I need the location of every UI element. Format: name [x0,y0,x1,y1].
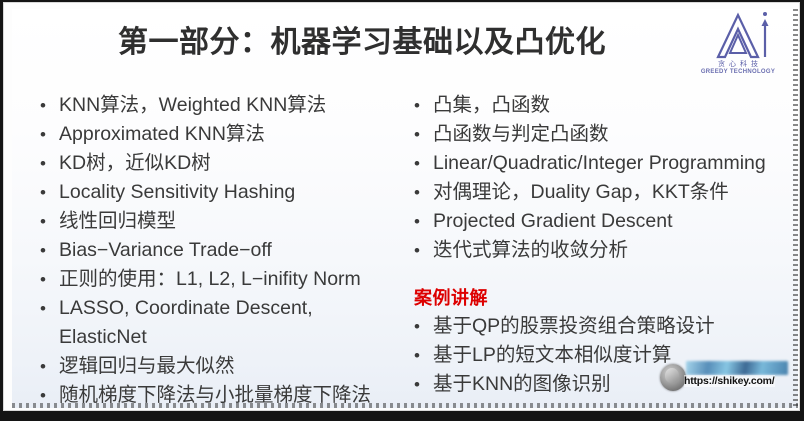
left-bullet-item: •KD树，近似KD树 [40,149,410,178]
right-bullet-item: •Projected Gradient Descent [414,207,794,236]
case-study-item: •基于QP的股票投资组合策略设计 [414,312,794,341]
bullet-dot-icon: • [414,149,433,178]
right-bullet-item-label: 凸函数与判定凸函数 [433,120,794,149]
bullet-dot-icon: • [40,265,59,294]
case-study-item-label: 基于QP的股票投资组合策略设计 [433,312,794,341]
right-bullet-item-label: Linear/Quadratic/Integer Programming [433,149,794,178]
right-bullet-item: •凸函数与判定凸函数 [414,120,794,149]
left-bullet-item-label: Approximated KNN算法 [59,120,410,149]
greedy-technology-logo: 贪心科技 GREEDY TECHNOLOGY [692,11,784,79]
left-bullet-item: •LASSO, Coordinate Descent,ElasticNet [40,294,410,352]
bullet-dot-icon: • [40,120,59,149]
user-avatar-icon [660,364,686,391]
watermark-blurred-text [686,361,788,375]
bullet-dot-icon: • [40,207,59,236]
bullet-dot-icon: • [414,312,433,341]
bullet-dot-icon: • [414,341,433,370]
bullet-dot-icon: • [414,370,433,399]
bullet-dot-icon: • [40,149,59,178]
bullet-dot-icon: • [40,178,59,207]
left-bullet-item: •Bias−Variance Trade−off [40,236,410,265]
right-bullet-item-label: 迭代式算法的收敛分析 [433,236,794,265]
bullet-dot-icon: • [414,236,433,265]
right-bullet-column: •凸集，凸函数•凸函数与判定凸函数•Linear/Quadratic/Integ… [414,91,794,265]
right-bullet-item: •对偶理论，Duality Gap，KKT条件 [414,178,794,207]
right-bullet-item: •迭代式算法的收敛分析 [414,236,794,265]
left-bullet-item-label-continued: ElasticNet [59,323,410,352]
logo-a-arrow-icon [692,11,784,61]
right-bullet-item: •Linear/Quadratic/Integer Programming [414,149,794,178]
bullet-dot-icon: • [40,91,59,120]
watermark: https://shikey.com/ [660,361,790,395]
watermark-url: https://shikey.com/ [684,375,775,387]
left-bullet-item: •Locality Sensitivity Hashing [40,178,410,207]
left-bullet-item: •逻辑回归与最大似然 [40,352,410,381]
left-bullet-column: •KNN算法，Weighted KNN算法•Approximated KNN算法… [40,91,410,408]
bullet-dot-icon: • [40,236,59,265]
left-bullet-item-label: LASSO, Coordinate Descent,ElasticNet [59,294,410,352]
left-bullet-item: •正则的使用：L1, L2, L−inifity Norm [40,265,410,294]
bullet-dot-icon: • [40,294,59,323]
bullet-dot-icon: • [414,207,433,236]
bullet-dot-icon: • [414,91,433,120]
left-bullet-item-label: Locality Sensitivity Hashing [59,178,410,207]
left-bullet-item: •线性回归模型 [40,207,410,236]
left-bullet-item: •随机梯度下降法与小批量梯度下降法 [40,381,410,408]
bullet-dot-icon: • [40,381,59,408]
screen-frame: 第一部分：机器学习基础以及凸优化 贪心科技 GREEDY TECHNOLOGY … [0,0,804,421]
left-bullet-item-label: 随机梯度下降法与小批量梯度下降法 [59,381,410,408]
right-bullet-item-label: 对偶理论，Duality Gap，KKT条件 [433,178,794,207]
presentation-slide: 第一部分：机器学习基础以及凸优化 贪心科技 GREEDY TECHNOLOGY … [12,9,798,408]
left-bullet-item: •Approximated KNN算法 [40,120,410,149]
case-study-heading: 案例讲解 [414,286,794,310]
slide-title: 第一部分：机器学习基础以及凸优化 [12,17,712,61]
left-bullet-item-label: KNN算法，Weighted KNN算法 [59,91,410,120]
left-bullet-item-label: KD树，近似KD树 [59,149,410,178]
logo-english-name: GREEDY TECHNOLOGY [692,69,784,75]
left-bullet-item-label: 逻辑回归与最大似然 [59,352,410,381]
bullet-dot-icon: • [414,178,433,207]
left-bullet-item-label: 正则的使用：L1, L2, L−inifity Norm [59,265,410,294]
bullet-dot-icon: • [40,352,59,381]
left-bullet-item: •KNN算法，Weighted KNN算法 [40,91,410,120]
bullet-dot-icon: • [414,120,433,149]
logo-chinese-name: 贪心科技 [692,59,784,69]
right-bullet-item-label: 凸集，凸函数 [433,91,794,120]
left-bullet-item-label: Bias−Variance Trade−off [59,236,410,265]
right-bullet-item: •凸集，凸函数 [414,91,794,120]
left-bullet-item-label: 线性回归模型 [59,207,410,236]
right-bullet-item-label: Projected Gradient Descent [433,207,794,236]
slide-bevel: 第一部分：机器学习基础以及凸优化 贪心科技 GREEDY TECHNOLOGY … [3,2,800,411]
